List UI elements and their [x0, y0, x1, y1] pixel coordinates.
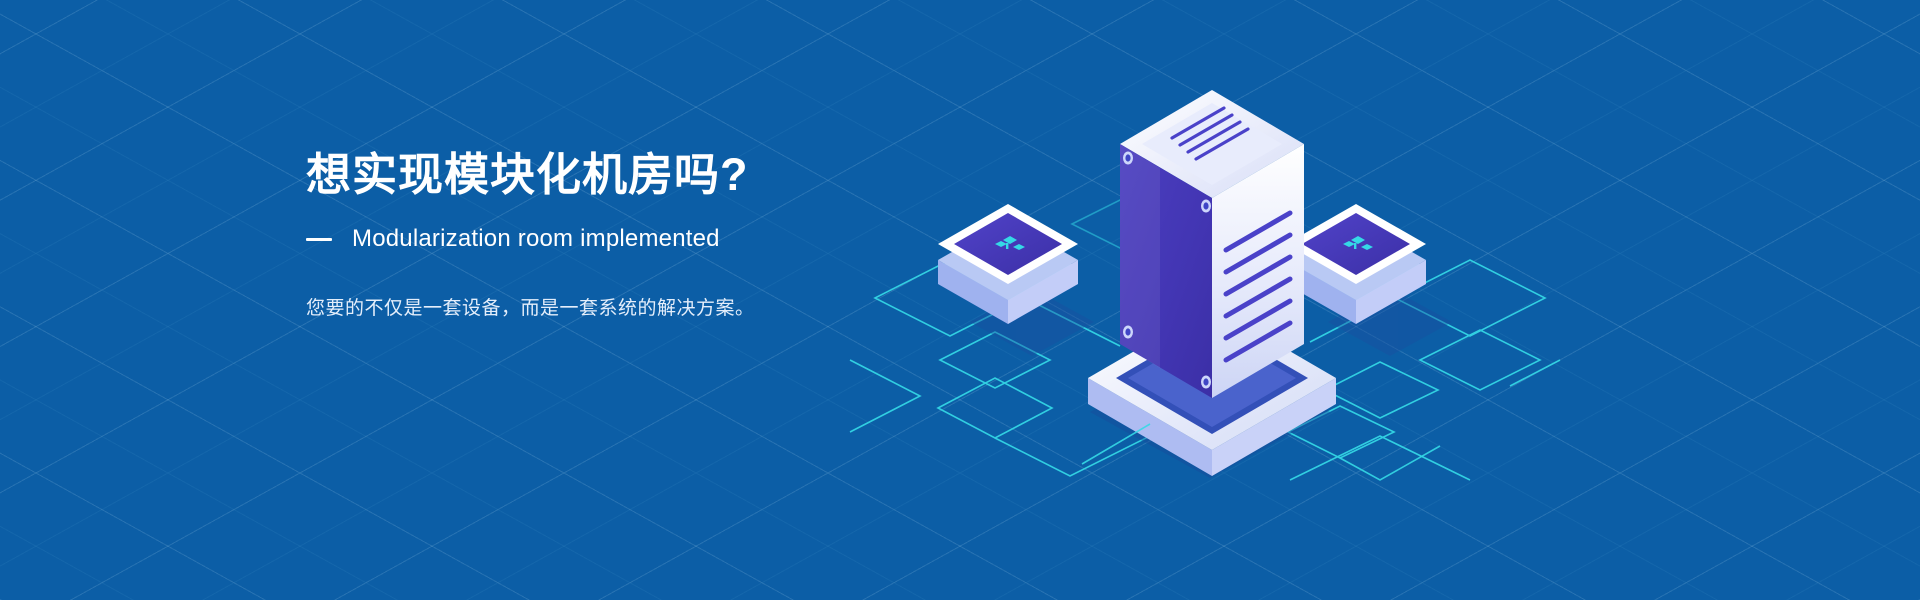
dash-icon [306, 238, 332, 241]
page-title: 想实现模块化机房吗? [306, 148, 926, 201]
hero-banner: 想实现模块化机房吗? Modularization room implement… [0, 0, 1920, 600]
banner-copy: 想实现模块化机房吗? Modularization room implement… [306, 148, 926, 324]
isometric-server-illustration [820, 60, 1600, 540]
server-tower [1120, 90, 1304, 398]
banner-description: 您要的不仅是一套设备，而是一套系统的解决方案。 [306, 294, 926, 324]
banner-subtitle: Modularization room implemented [352, 225, 720, 254]
subtitle-row: Modularization room implemented [306, 225, 926, 254]
